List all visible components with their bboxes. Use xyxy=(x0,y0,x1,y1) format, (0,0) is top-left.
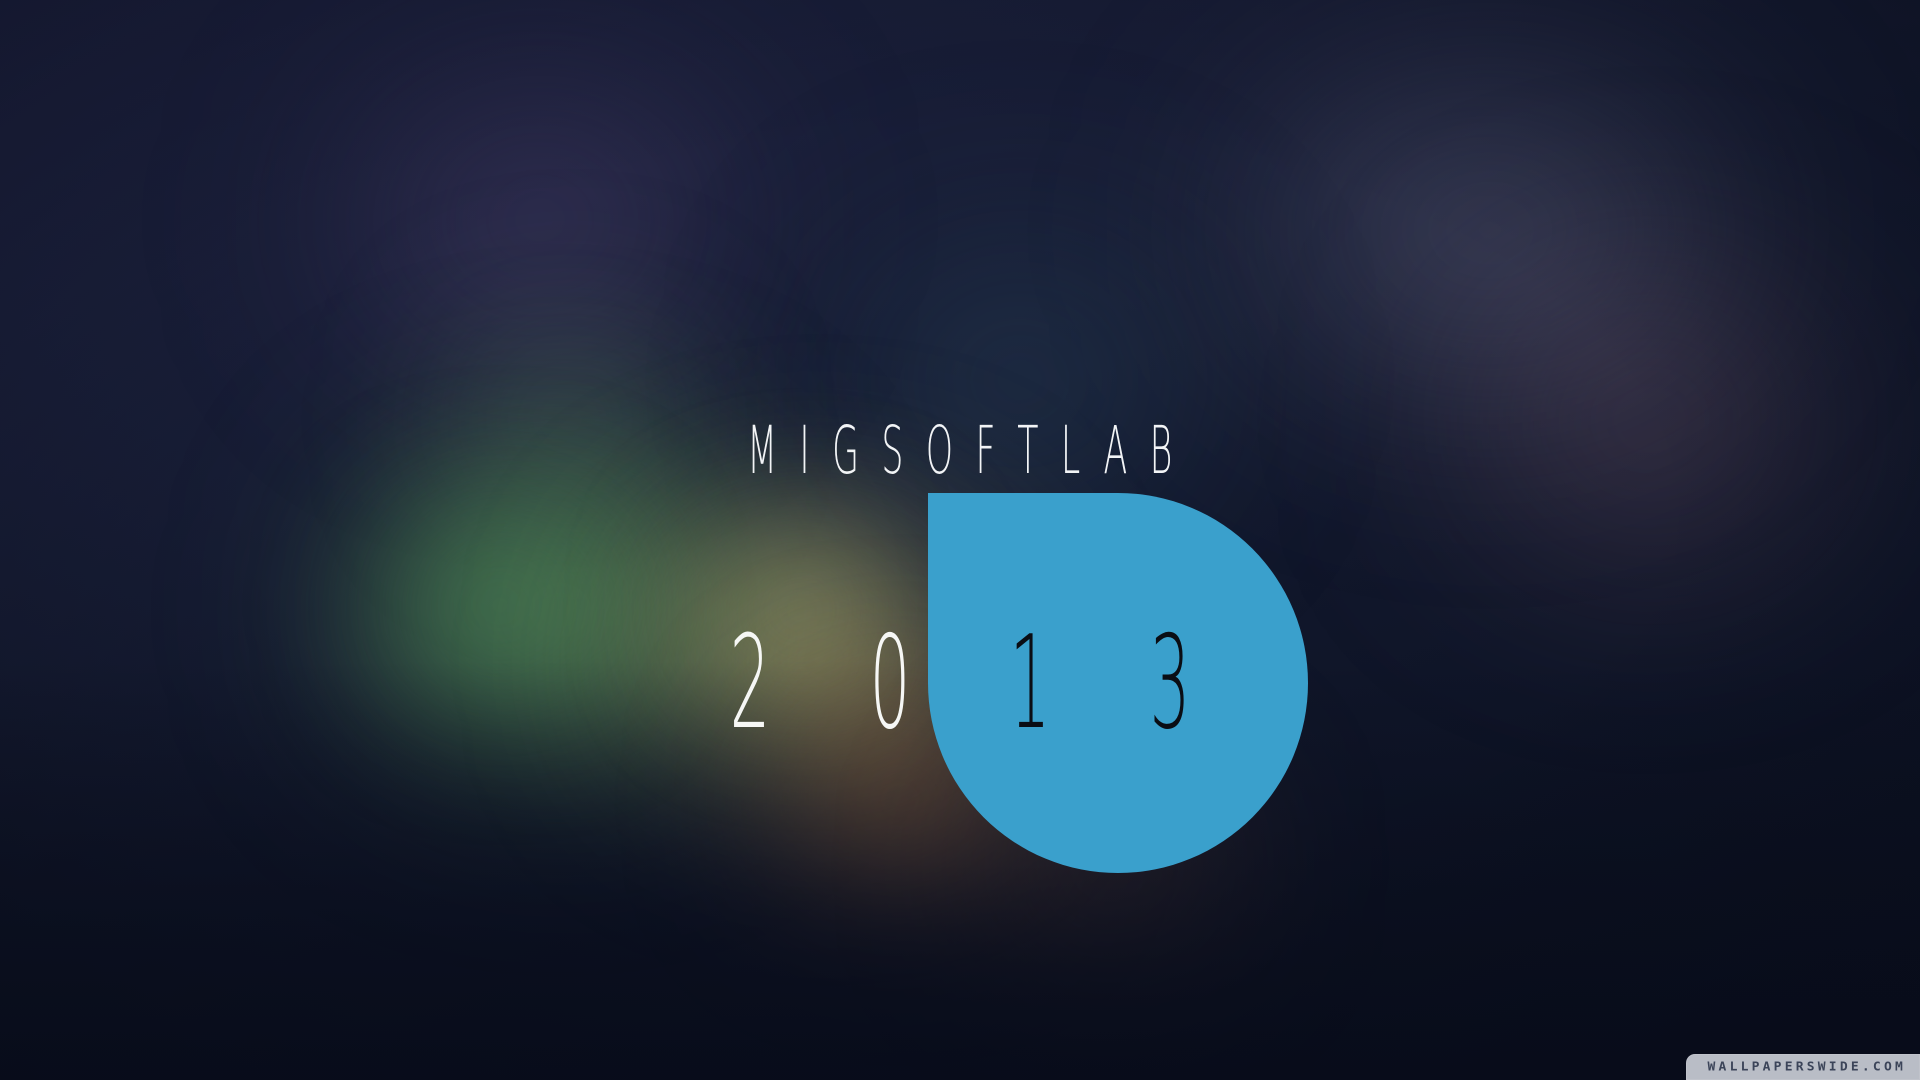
brand-wordmark-text: MIGSOFTLAB xyxy=(725,418,1195,484)
wallpaper-canvas: MIGSOFTLAB 2013 WALLPAPERSWIDE.COM xyxy=(0,0,1920,1080)
watermark-text: WALLPAPERSWIDE.COM xyxy=(1708,1060,1906,1074)
teardrop-shape xyxy=(928,493,1308,873)
watermark-bar: WALLPAPERSWIDE.COM xyxy=(1686,1054,1920,1080)
brand-wordmark: MIGSOFTLAB xyxy=(0,418,1920,480)
